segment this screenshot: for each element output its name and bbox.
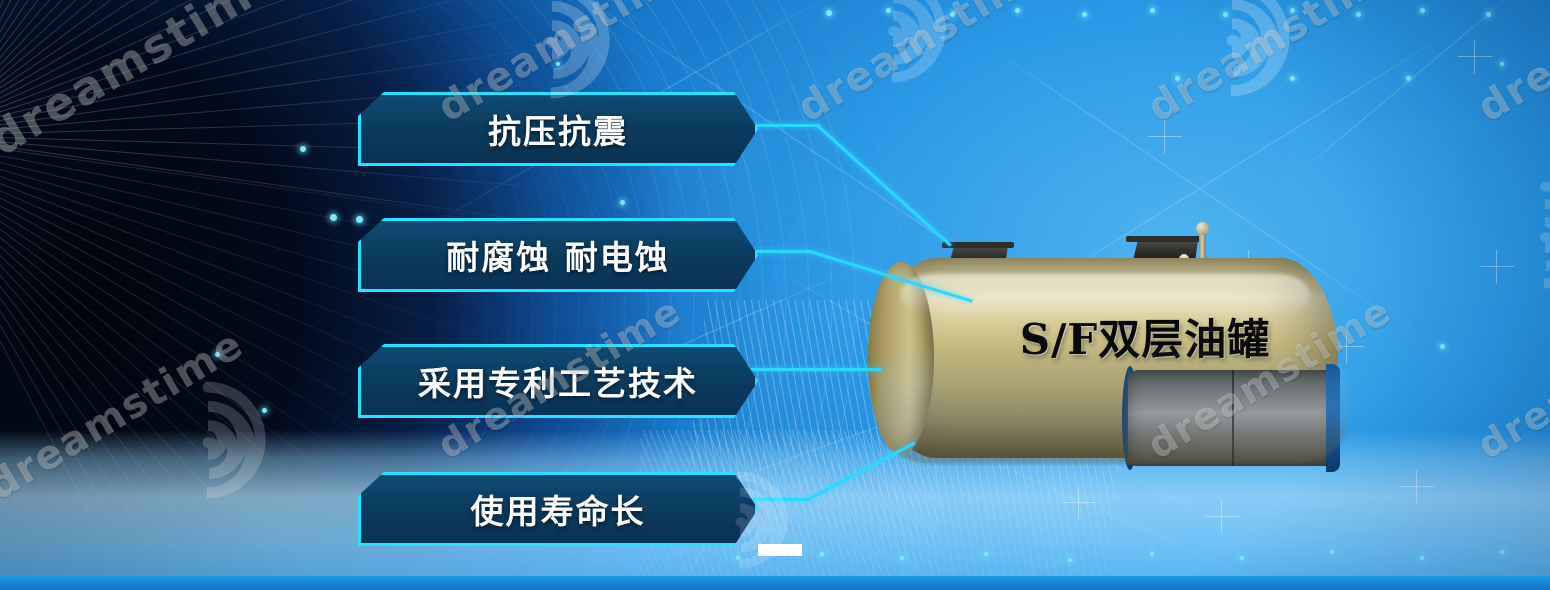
glow-dot bbox=[262, 408, 267, 413]
arc-ring bbox=[79, 135, 511, 525]
arc-ring bbox=[107, 160, 483, 499]
dark-fan-line bbox=[0, 0, 225, 94]
dark-fan-line bbox=[0, 0, 402, 107]
manhole-flange-right-icon bbox=[1126, 236, 1204, 242]
arc-ring bbox=[0, 109, 345, 511]
glow-dot bbox=[1420, 8, 1425, 13]
dark-fan-line bbox=[0, 188, 405, 568]
arc-ring bbox=[0, 133, 320, 488]
watermark-text: dreamstime bbox=[0, 0, 291, 166]
watermark-spiral-logo-icon bbox=[838, 0, 948, 89]
dark-fan-line bbox=[0, 204, 329, 590]
watermark-text: dreamstime bbox=[1140, 0, 1412, 131]
tank-floor-reflection bbox=[878, 344, 1348, 464]
feature-banner-4-inner: 使用寿命长 bbox=[361, 475, 755, 543]
glow-dot bbox=[356, 216, 363, 223]
tech-shard bbox=[827, 60, 1063, 240]
feature-banner-2[interactable]: 耐腐蚀 耐电蚀 bbox=[358, 218, 758, 292]
feature-banner-3[interactable]: 采用专利工艺技术 bbox=[358, 344, 758, 418]
dark-fan-line bbox=[0, 224, 216, 590]
glow-dot bbox=[1175, 76, 1180, 81]
sparkle-icon bbox=[1480, 250, 1514, 284]
dark-fan-line bbox=[0, 172, 466, 462]
glow-dot bbox=[1330, 550, 1334, 554]
connector-line-2-horizontal bbox=[750, 250, 812, 253]
glow-dot bbox=[1082, 12, 1087, 17]
dark-fan-line bbox=[0, 184, 422, 543]
glow-dot bbox=[300, 146, 306, 152]
watermark-text: dreamstime bbox=[0, 321, 252, 510]
feature-banner-4-label: 使用寿命长 bbox=[471, 485, 646, 533]
oil-tank-illustration: S/F双层油罐 bbox=[860, 218, 1360, 508]
glow-dot bbox=[1290, 76, 1295, 81]
arc-ring bbox=[0, 39, 420, 582]
glow-dot bbox=[1223, 12, 1228, 17]
watermark-spiral-logo-icon bbox=[148, 380, 268, 505]
feature-banner-1[interactable]: 抗压抗震 bbox=[358, 92, 758, 166]
bottom-white-marker bbox=[758, 544, 802, 556]
arc-ring bbox=[0, 62, 395, 558]
glow-dot bbox=[1015, 8, 1020, 13]
glow-dot bbox=[826, 10, 832, 16]
glow-dot bbox=[1150, 552, 1154, 556]
connector-line-3-horizontal bbox=[750, 368, 882, 371]
dark-fan-line bbox=[0, 0, 348, 103]
dark-fan-line bbox=[0, 212, 286, 590]
feature-banner-2-label: 耐腐蚀 耐电蚀 bbox=[446, 231, 670, 279]
arc-ring bbox=[0, 156, 295, 464]
watermark-spiral-logo-icon bbox=[1490, 180, 1550, 295]
cross-line bbox=[1290, 0, 1520, 181]
feature-banner-3-label: 采用专利工艺技术 bbox=[418, 357, 698, 405]
glow-dot bbox=[330, 214, 337, 221]
cross-line bbox=[180, 0, 612, 61]
arc-ring bbox=[0, 86, 370, 535]
glow-dot bbox=[1406, 76, 1411, 81]
feature-banner-3-inner: 采用专利工艺技术 bbox=[361, 347, 755, 415]
dark-fan-line bbox=[0, 216, 263, 590]
glow-dot bbox=[1240, 556, 1244, 560]
glow-dot bbox=[215, 352, 220, 357]
dark-fan-line bbox=[0, 208, 308, 590]
watermark-text: dreamstime bbox=[1470, 0, 1550, 131]
dark-fan-line bbox=[0, 0, 159, 90]
dark-fan-line bbox=[0, 200, 349, 590]
feature-banner-1-label: 抗压抗震 bbox=[488, 105, 628, 153]
dark-fan-line bbox=[0, 0, 376, 105]
watermark-spiral-logo-icon bbox=[492, 0, 612, 105]
dark-fan-line bbox=[0, 196, 369, 590]
cross-line bbox=[1150, 0, 1513, 1]
glow-dot bbox=[556, 62, 560, 66]
feature-banner-1-inner: 抗压抗震 bbox=[361, 95, 755, 163]
glow-dot bbox=[620, 200, 625, 205]
glow-dot bbox=[886, 8, 891, 13]
feature-banner-2-inner: 耐腐蚀 耐电蚀 bbox=[361, 221, 755, 289]
dark-fan-line bbox=[0, 220, 240, 590]
watermark-text: dreamstime bbox=[790, 0, 1062, 131]
glow-dot bbox=[1150, 8, 1155, 13]
glow-dot bbox=[1500, 550, 1504, 554]
watermark-spiral-logo-icon bbox=[1172, 0, 1292, 103]
vent-cap-icon bbox=[1196, 222, 1209, 235]
glow-dot bbox=[1500, 62, 1504, 66]
watermark-text: dreamstime bbox=[1470, 288, 1550, 468]
sparkle-icon bbox=[1148, 120, 1182, 154]
dark-fan-line bbox=[0, 0, 289, 99]
dark-fan-line bbox=[0, 0, 319, 101]
connector-line-1-horizontal bbox=[750, 124, 820, 127]
glow-dot bbox=[1356, 12, 1361, 17]
dark-fan-line bbox=[0, 0, 257, 96]
feature-banner-4[interactable]: 使用寿命长 bbox=[358, 472, 758, 546]
manhole-flange-left-icon bbox=[942, 242, 1014, 248]
dark-fan-line bbox=[0, 0, 427, 109]
banner-canvas: S/F双层油罐 抗压抗震 耐腐蚀 耐电蚀 采用专利工艺技术 使用寿命长 dr bbox=[0, 0, 1550, 590]
glow-dot bbox=[1420, 556, 1424, 560]
glow-dot bbox=[1440, 344, 1445, 349]
dark-fan-line bbox=[0, 0, 192, 92]
connector-line-4-horizontal bbox=[750, 498, 810, 501]
sparkle-icon bbox=[1400, 470, 1434, 504]
sparkle-icon bbox=[1458, 40, 1492, 74]
glow-dot bbox=[1290, 8, 1295, 13]
dark-fan-line bbox=[0, 192, 387, 590]
glow-dot bbox=[1486, 12, 1491, 17]
glow-dot bbox=[950, 12, 955, 17]
